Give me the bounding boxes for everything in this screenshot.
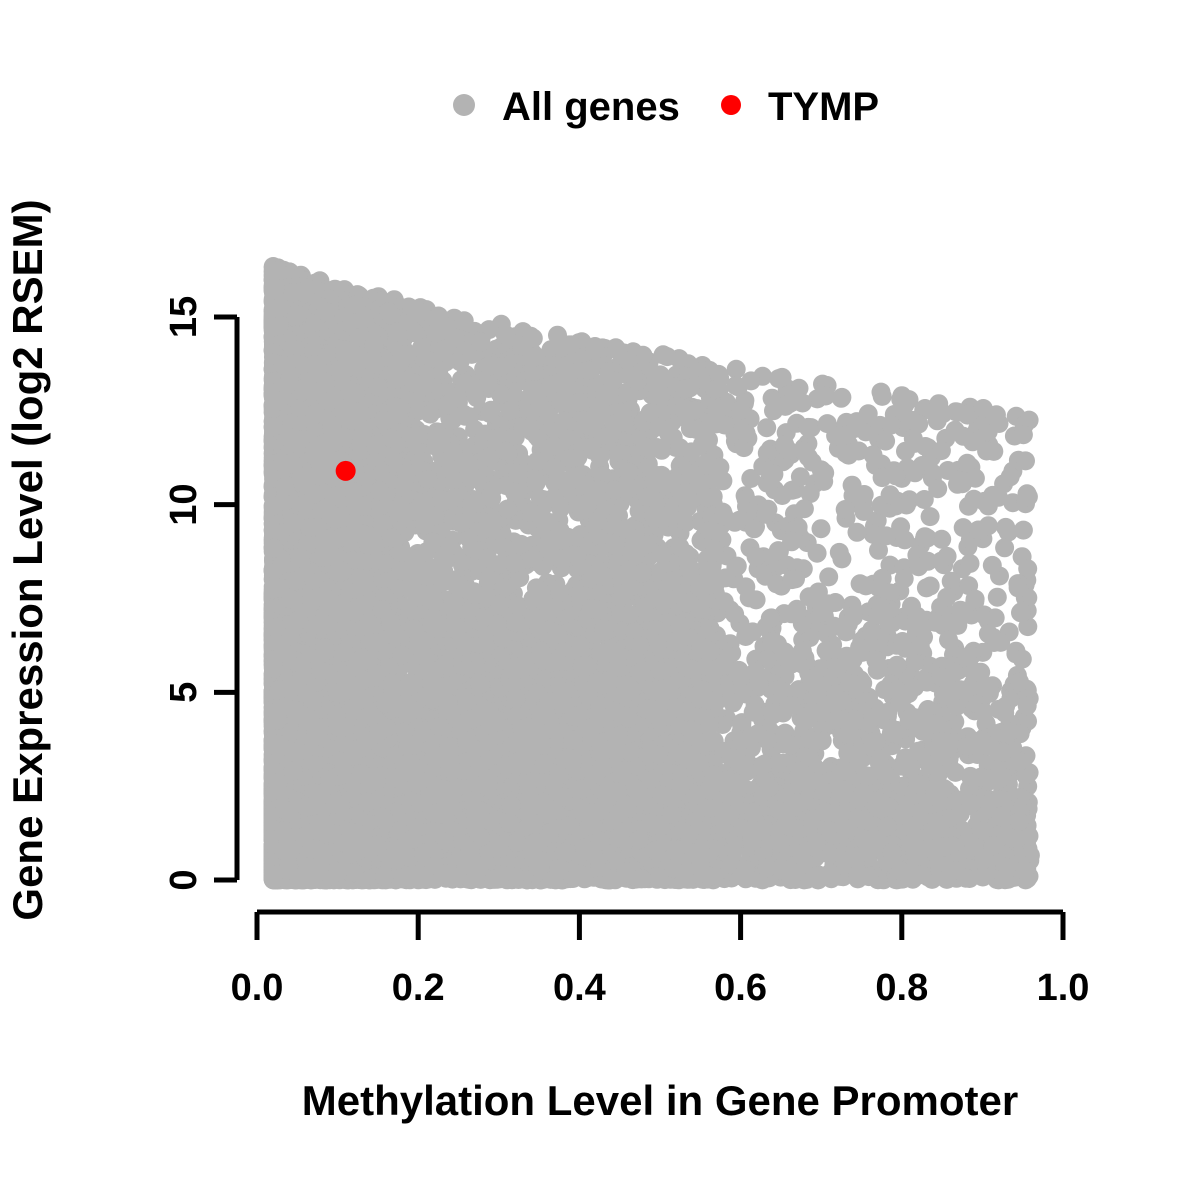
scatter-plot-figure: 051015 Gene Expression Level (log2 RSEM)… (0, 0, 1200, 1200)
data-point (988, 588, 1007, 607)
data-point (996, 518, 1015, 537)
data-point (1014, 521, 1033, 540)
chart-canvas: 051015 Gene Expression Level (log2 RSEM)… (0, 0, 1200, 1200)
data-point (812, 519, 831, 538)
data-point (921, 507, 940, 526)
data-point (757, 418, 776, 437)
data-point (727, 360, 746, 379)
